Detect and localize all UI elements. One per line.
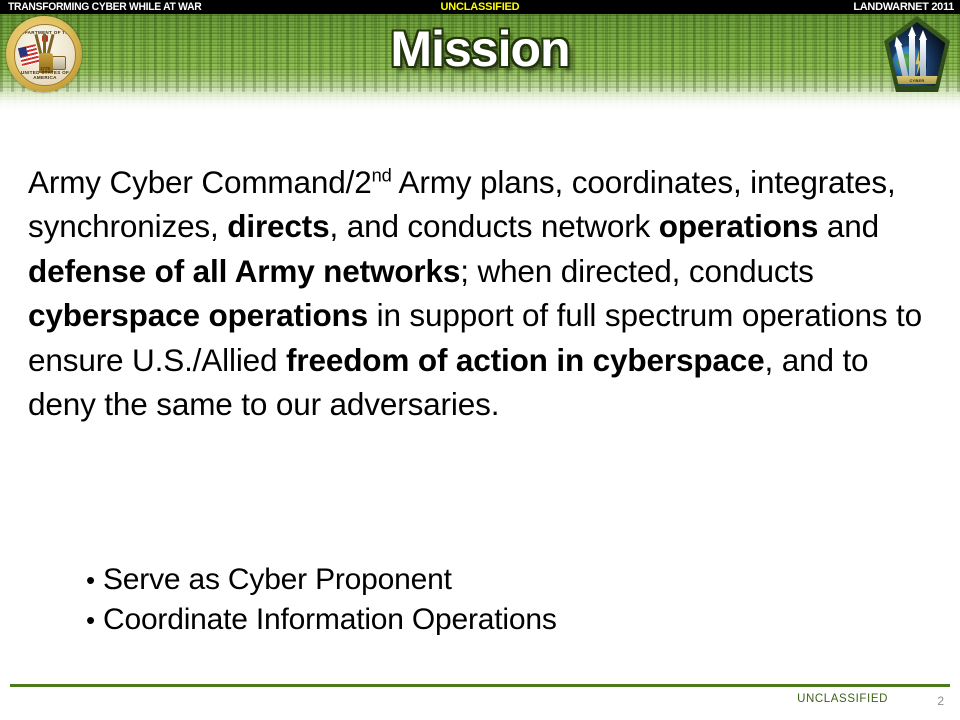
list-item: •Serve as Cyber Proponent [86, 560, 946, 600]
emphasis-text: operations [659, 208, 819, 244]
page-number: 2 [937, 694, 944, 708]
slide-header-banner: TRANSFORMING CYBER WHILE AT WAR UNCLASSI… [0, 0, 960, 112]
body-text: ; when directed, conducts [460, 253, 813, 289]
list-item: •Coordinate Information Operations [86, 600, 946, 640]
footer-divider [10, 684, 950, 687]
mission-statement-paragraph: Army Cyber Command/2nd Army plans, coord… [28, 160, 940, 428]
body-text: and [818, 208, 879, 244]
bullet-marker-icon: • [86, 600, 103, 640]
patch-sword-right-icon [920, 39, 926, 79]
emphasis-text: directs [227, 208, 329, 244]
patch-scroll-banner: CYBER [894, 76, 939, 84]
list-item-label: Coordinate Information Operations [103, 600, 557, 640]
classification-bar: TRANSFORMING CYBER WHILE AT WAR UNCLASSI… [0, 0, 960, 14]
emphasis-text: cyberspace operations [28, 297, 368, 333]
slide-body: Army Cyber Command/2nd Army plans, coord… [0, 112, 960, 672]
presentation-slide: TRANSFORMING CYBER WHILE AT WAR UNCLASSI… [0, 0, 960, 720]
emphasis-text: freedom of action in cyberspace [286, 342, 765, 378]
bullet-marker-icon: • [86, 560, 103, 600]
body-text: Army Cyber Command/2 [28, 164, 372, 200]
patch-scroll-label: CYBER [894, 76, 939, 85]
conference-name-label: LANDWARNET 2011 [853, 0, 954, 14]
slide-title: Mission [0, 20, 960, 78]
body-text: , and conducts network [330, 208, 659, 244]
classification-label-bottom: UNCLASSIFIED [0, 693, 888, 705]
patch-sword-center-icon [909, 35, 915, 78]
list-item-label: Serve as Cyber Proponent [103, 560, 452, 600]
emphasis-text: defense of all Army networks [28, 253, 460, 289]
classification-label-top: UNCLASSIFIED [0, 0, 960, 14]
ordinal-suffix: nd [372, 164, 392, 185]
mission-bullet-list: •Serve as Cyber Proponent•Coordinate Inf… [86, 560, 946, 640]
army-cyber-command-insignia-icon: CYBER [884, 16, 950, 92]
